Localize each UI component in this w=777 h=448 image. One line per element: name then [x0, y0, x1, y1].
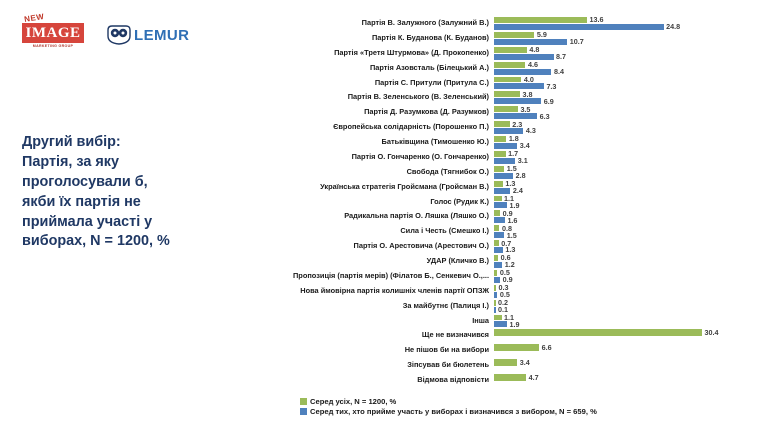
chart-category-label: Нова ймовірна партія колишніх членів пар… [232, 284, 494, 299]
slide-title-line: Другий вибір: [22, 133, 234, 153]
chart-bars-zone: 3.56.3 [494, 105, 772, 119]
chart-bar-line: 4.3 [494, 128, 772, 134]
chart-category-label: Українська стратегія Гройсмана (Гройсман… [232, 180, 494, 195]
chart-bar-line: 7.3 [494, 83, 772, 89]
chart-bar-green[interactable] [494, 166, 504, 172]
chart-bar-value: 3.5 [518, 106, 531, 113]
chart-bar-blue[interactable] [494, 83, 544, 89]
chart-bar-blue[interactable] [494, 54, 554, 60]
slide-title-line: Партія, за яку [22, 153, 234, 173]
chart-category-label: Свобода (Тягнибок О.) [232, 165, 494, 180]
chart-bar-blue[interactable] [494, 143, 517, 149]
chart-category-label: За майбутнє (Палиця І.) [232, 299, 494, 314]
chart-bar-blue[interactable] [494, 173, 513, 179]
chart-bar-value: 24.8 [664, 23, 681, 30]
chart-bar-value: 1.5 [504, 232, 517, 239]
slide-title-line: проголосували б, [22, 173, 234, 193]
new-image-logo-box: IMAGE [22, 23, 84, 43]
chart-bar-line: 6.6 [494, 344, 772, 351]
chart-bars-zone: 3.4 [494, 358, 772, 366]
chart-bar-blue[interactable] [494, 98, 541, 104]
chart-bar-line: 3.4 [494, 359, 772, 366]
logo-bar: NEW IMAGE MARKETING GROUP LEMUR [22, 14, 189, 56]
chart-bars-zone: 1.73.1 [494, 150, 772, 164]
chart-bar-green[interactable] [494, 77, 521, 83]
chart-bar-green[interactable] [494, 136, 506, 142]
chart-bars-zone: 1.32.4 [494, 180, 772, 194]
chart-bar-value: 5.9 [534, 31, 547, 38]
chart-bar-value: 4.8 [527, 46, 540, 53]
chart-category-label: Партія Д. Разумкова (Д. Разумков) [232, 105, 494, 120]
slide-title-line: приймала участі у [22, 213, 234, 233]
chart-bar-line: 1.3 [494, 181, 772, 187]
chart-category-label: Європейська солідарність (Порошенко П.) [232, 120, 494, 135]
chart-bar-green[interactable] [494, 106, 518, 112]
chart-bar-value: 4.0 [521, 76, 534, 83]
chart-category-row: Партія В. Зеленського (В. Зеленський)3.8… [232, 90, 772, 105]
chart-category-row: Партія В. Залужного (Залужний В.)13.624.… [232, 16, 772, 31]
chart-bar-value: 10.7 [567, 38, 584, 45]
chart-bar-line: 3.1 [494, 158, 772, 164]
chart-bars-zone: 1.52.8 [494, 165, 772, 179]
chart-bar-line: 1.7 [494, 151, 772, 157]
chart-bar-value: 6.3 [537, 113, 550, 120]
chart-category-label: Партія «Третя Штурмова» (Д. Прокопенко) [232, 46, 494, 61]
chart-category-row: Партія С. Притули (Притула С.)4.07.3 [232, 76, 772, 91]
chart-category-label: Пропозиція (партія мерів) (Філатов Б., С… [232, 269, 494, 284]
chart-bar-line: 0.7 [494, 240, 772, 246]
chart-category-row: Радикальна партія О. Ляшка (Ляшко О.)0.9… [232, 209, 772, 224]
chart-category-label: Партія О. Арестовича (Арестович О.) [232, 239, 494, 254]
chart-bar-value: 4.6 [525, 61, 538, 68]
chart-bars-zone: 0.71.3 [494, 239, 772, 253]
chart-category-label: УДАР (Кличко В.) [232, 254, 494, 269]
lemur-logo: LEMUR [106, 25, 189, 45]
chart-category-row: Нова ймовірна партія колишніх членів пар… [232, 284, 772, 299]
chart-bar-green[interactable] [494, 374, 526, 381]
chart-bar-blue[interactable] [494, 128, 523, 134]
chart-bar-blue[interactable] [494, 39, 567, 45]
chart-bar-blue[interactable] [494, 69, 551, 75]
chart-category-row: Інша1.11.9 [232, 314, 772, 329]
chart-bars-zone: 2.34.3 [494, 120, 772, 134]
chart-bar-line: 1.1 [494, 196, 772, 202]
chart-bar-value: 3.8 [520, 91, 533, 98]
chart-bar-value: 2.3 [510, 121, 523, 128]
chart-category-row: Партія К. Буданова (К. Буданов)5.910.7 [232, 31, 772, 46]
chart-bar-value: 2.8 [513, 172, 526, 179]
chart-bar-line: 24.8 [494, 24, 772, 30]
chart-bar-green[interactable] [494, 32, 534, 38]
chart-bar-blue[interactable] [494, 217, 505, 223]
chart-bars-zone: 13.624.8 [494, 16, 772, 30]
chart-category-label: Радикальна партія О. Ляшка (Ляшко О.) [232, 209, 494, 224]
chart-bar-value: 13.6 [587, 16, 604, 23]
chart-category-row: Партія «Третя Штурмова» (Д. Прокопенко)4… [232, 46, 772, 61]
chart-bar-line: 0.9 [494, 277, 772, 283]
chart-bar-line: 8.4 [494, 69, 772, 75]
chart-bar-line: 4.8 [494, 47, 772, 53]
chart-category-label: Інша [232, 314, 494, 329]
chart-category-row: Європейська солідарність (Порошенко П.)2… [232, 120, 772, 135]
chart-bar-line: 3.4 [494, 143, 772, 149]
chart-category-label: Партія В. Зеленського (В. Зеленський) [232, 90, 494, 105]
chart-bars-zone: 30.4 [494, 328, 772, 336]
chart-bar-blue[interactable] [494, 188, 510, 194]
chart-bars-zone: 0.20.1 [494, 299, 772, 313]
chart-category-row: Свобода (Тягнибок О.)1.52.8 [232, 165, 772, 180]
chart-bars-zone: 0.91.6 [494, 209, 772, 223]
chart-category-row: Партія Азовсталь (Білецький А.)4.68.4 [232, 61, 772, 76]
chart-bars-zone: 1.11.9 [494, 314, 772, 328]
chart-bar-line: 0.1 [494, 307, 772, 313]
chart-bar-line: 4.7 [494, 374, 772, 381]
chart-category-label: Партія К. Буданова (К. Буданов) [232, 31, 494, 46]
chart-bar-line: 3.8 [494, 91, 772, 97]
chart-bar-blue[interactable] [494, 202, 507, 208]
chart-bars-zone: 0.50.9 [494, 269, 772, 283]
chart-bar-value: 4.7 [526, 374, 539, 381]
chart-bar-line: 0.2 [494, 300, 772, 306]
chart-category-row: Зіпсував би бюлетень3.4 [232, 358, 772, 373]
chart-bar-value: 1.9 [507, 202, 520, 209]
chart-bar-blue[interactable] [494, 247, 503, 253]
chart-bar-value: 4.3 [523, 127, 536, 134]
chart-bar-value: 7.3 [544, 83, 557, 90]
lemur-face-icon [106, 25, 132, 45]
chart-bar-green[interactable] [494, 17, 587, 23]
chart-category-row: Ще не визначився30.4 [232, 328, 772, 343]
chart-category-label: Ще не визначився [232, 328, 494, 343]
chart-bar-blue[interactable] [494, 321, 507, 327]
chart-bar-line: 2.4 [494, 188, 772, 194]
legend-swatch-blue [300, 408, 307, 415]
chart-bar-line: 1.5 [494, 166, 772, 172]
chart-category-row: УДАР (Кличко В.)0.61.2 [232, 254, 772, 269]
new-image-logo-main-text: IMAGE [26, 25, 81, 42]
chart-bar-line: 1.1 [494, 315, 772, 321]
chart-bar-green[interactable] [494, 315, 502, 321]
new-image-logo: NEW IMAGE MARKETING GROUP [22, 15, 84, 55]
chart-bar-blue[interactable] [494, 24, 664, 30]
chart-category-label: Відмова відповісти [232, 373, 494, 388]
chart-bars-zone: 6.6 [494, 343, 772, 351]
chart-bar-line: 13.6 [494, 17, 772, 23]
chart-bar-value: 1.9 [507, 321, 520, 328]
chart-bar-line: 0.5 [494, 292, 772, 298]
chart-category-label: Зіпсував би бюлетень [232, 358, 494, 373]
chart-bar-line: 0.5 [494, 270, 772, 276]
chart-bars-zone: 0.61.2 [494, 254, 772, 268]
chart-bar-line: 0.6 [494, 255, 772, 261]
chart-bar-value: 3.4 [517, 142, 530, 149]
chart-bar-value: 6.9 [541, 98, 554, 105]
chart-bar-line: 10.7 [494, 39, 772, 45]
chart-bar-green[interactable] [494, 91, 520, 97]
chart-category-label: Батьківщина (Тимошенко Ю.) [232, 135, 494, 150]
chart-bar-value: 1.6 [505, 217, 518, 224]
chart-bar-line: 4.6 [494, 62, 772, 68]
slide-title-line: виборах, N = 1200, % [22, 232, 234, 252]
new-image-logo-sub-text: MARKETING GROUP [22, 44, 84, 48]
chart-bar-blue[interactable] [494, 158, 515, 164]
chart-category-row: Сила і Честь (Смешко І.)0.81.5 [232, 224, 772, 239]
chart-bar-line: 30.4 [494, 329, 772, 336]
chart-bars-zone: 0.30.5 [494, 284, 772, 298]
chart-bar-line: 4.0 [494, 77, 772, 83]
chart-category-label: Партія С. Притули (Притула С.) [232, 76, 494, 91]
slide-canvas: NEW IMAGE MARKETING GROUP LEMUR Другий в… [0, 0, 777, 448]
chart-bars-zone: 0.81.5 [494, 224, 772, 238]
lemur-logo-text: LEMUR [134, 27, 189, 44]
chart-category-label: Партія Азовсталь (Білецький А.) [232, 61, 494, 76]
chart-bars-zone: 4.88.7 [494, 46, 772, 60]
chart-bar-line: 1.6 [494, 217, 772, 223]
chart-bar-line: 1.2 [494, 262, 772, 268]
chart-category-row: Партія Д. Разумкова (Д. Разумков)3.56.3 [232, 105, 772, 120]
chart-bar-green[interactable] [494, 47, 527, 53]
chart-legend: Серед усіх, N = 1200, %Серед тих, хто пр… [300, 398, 760, 417]
chart-bar-green[interactable] [494, 196, 502, 202]
chart-bars-zone: 1.83.4 [494, 135, 772, 149]
chart-bar-line: 0.9 [494, 210, 772, 216]
chart-category-row: Батьківщина (Тимошенко Ю.)1.83.4 [232, 135, 772, 150]
chart-category-row: Партія О. Гончаренко (О. Гончаренко)1.73… [232, 150, 772, 165]
chart-category-label: Партія О. Гончаренко (О. Гончаренко) [232, 150, 494, 165]
chart-bar-line: 1.5 [494, 232, 772, 238]
chart-bar-line: 1.9 [494, 321, 772, 327]
chart-bar-line: 6.9 [494, 98, 772, 104]
chart-bar-blue[interactable] [494, 113, 537, 119]
chart-bar-line: 1.8 [494, 136, 772, 142]
chart-category-label: Партія В. Залужного (Залужний В.) [232, 16, 494, 31]
slide-title-line: якби їх партія не [22, 193, 234, 213]
chart-bar-green[interactable] [494, 151, 506, 157]
chart-bar-value: 30.4 [702, 329, 719, 336]
legend-item[interactable]: Серед усіх, N = 1200, % [300, 398, 760, 406]
chart-category-label: Не пішов би на вибори [232, 343, 494, 358]
chart-bar-line: 8.7 [494, 54, 772, 60]
chart-bar-value: 3.4 [517, 359, 530, 366]
chart-bar-line: 6.3 [494, 113, 772, 119]
legend-item[interactable]: Серед тих, хто прийме участь у виборах і… [300, 408, 760, 416]
chart-bar-blue[interactable] [494, 262, 502, 268]
chart-bars-zone: 4.68.4 [494, 61, 772, 75]
chart-bar-green[interactable] [494, 181, 503, 187]
chart-bars-zone: 5.910.7 [494, 31, 772, 45]
horizontal-bar-chart: Партія В. Залужного (Залужний В.)13.624.… [232, 16, 772, 388]
chart-category-row: Українська стратегія Гройсмана (Гройсман… [232, 180, 772, 195]
chart-bars-zone: 3.86.9 [494, 90, 772, 104]
chart-bar-blue[interactable] [494, 232, 504, 238]
chart-category-row: Голос (Рудик К.)1.11.9 [232, 195, 772, 210]
chart-category-row: Пропозиція (партія мерів) (Філатов Б., С… [232, 269, 772, 284]
legend-swatch-green [300, 398, 307, 405]
chart-bar-green[interactable] [494, 359, 517, 366]
chart-bar-line: 3.5 [494, 106, 772, 112]
chart-category-row: Не пішов би на вибори6.6 [232, 343, 772, 358]
chart-bar-green[interactable] [494, 329, 702, 336]
chart-bar-line: 5.9 [494, 32, 772, 38]
chart-bar-line: 0.8 [494, 225, 772, 231]
chart-bar-green[interactable] [494, 62, 525, 68]
legend-label: Серед тих, хто прийме участь у виборах і… [310, 408, 597, 416]
chart-category-row: Відмова відповісти4.7 [232, 373, 772, 388]
chart-bar-green[interactable] [494, 121, 510, 127]
chart-bar-line: 1.9 [494, 202, 772, 208]
chart-category-row: Партія О. Арестовича (Арестович О.)0.71.… [232, 239, 772, 254]
legend-label: Серед усіх, N = 1200, % [310, 398, 396, 406]
chart-bar-line: 0.3 [494, 285, 772, 291]
chart-bars-zone: 1.11.9 [494, 195, 772, 209]
chart-category-label: Сила і Честь (Смешко І.) [232, 224, 494, 239]
chart-category-row: За майбутнє (Палиця І.)0.20.1 [232, 299, 772, 314]
slide-title: Другий вибір:Партія, за якупроголосували… [22, 133, 234, 252]
chart-bar-line: 2.8 [494, 173, 772, 179]
chart-bar-value: 3.1 [515, 157, 528, 164]
chart-bar-line: 1.3 [494, 247, 772, 253]
chart-category-label: Голос (Рудик К.) [232, 195, 494, 210]
chart-bar-green[interactable] [494, 344, 539, 351]
chart-bar-value: 8.7 [554, 53, 567, 60]
chart-bar-value: 8.4 [551, 68, 564, 75]
chart-bars-zone: 4.7 [494, 373, 772, 381]
chart-bars-zone: 4.07.3 [494, 76, 772, 90]
chart-bar-value: 6.6 [539, 344, 552, 351]
